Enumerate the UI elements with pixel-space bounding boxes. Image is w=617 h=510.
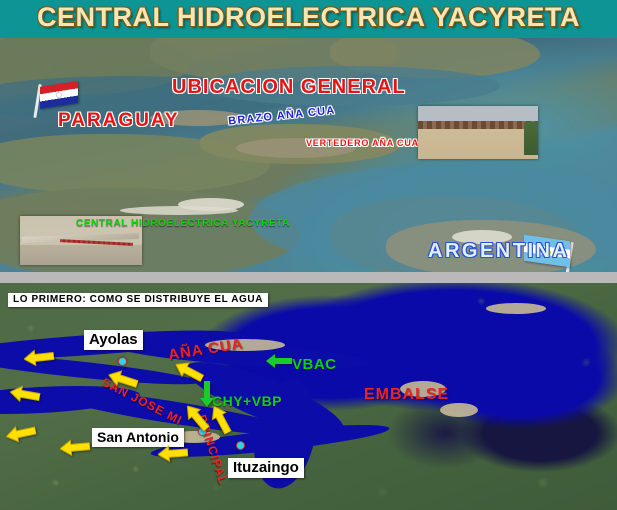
label-vertedero-ana-cua: VERTEDERO AÑA CUA xyxy=(306,138,419,148)
spillway-gates xyxy=(418,121,538,128)
page-title: CENTRAL HIDROELECTRICA YACYRETA xyxy=(0,2,617,33)
panel-separator xyxy=(0,272,617,283)
paraguay-flag xyxy=(32,84,78,110)
ubicacion-general-map[interactable]: UBICACION GENERAL PARAGUAY BRAZO AÑA CUA… xyxy=(0,38,617,272)
riverbank-vegetation xyxy=(524,122,538,155)
title-bar: CENTRAL HIDROELECTRICA YACYRETA xyxy=(0,0,617,38)
vertedero-ana-cua-photo[interactable] xyxy=(418,106,538,159)
flag-emblem xyxy=(56,92,62,98)
town-marker-ayolas[interactable] xyxy=(118,357,127,366)
inflow-arrow-vbac xyxy=(266,353,292,369)
island-shape xyxy=(486,303,546,314)
slide-root: CENTRAL HIDROELECTRICA YACYRETA UBICACIO… xyxy=(0,0,617,510)
town-label-ituzaingo: Ituzaingo xyxy=(228,458,304,478)
label-vbac: VBAC xyxy=(292,356,337,373)
powerhouse-water xyxy=(20,245,142,265)
inflow-arrow-chy-vbp xyxy=(199,381,215,407)
dam-structure-shape xyxy=(120,206,238,215)
town-label-ayolas: Ayolas xyxy=(84,330,143,350)
flow-arrow xyxy=(157,444,188,463)
town-marker-ituzaingo[interactable] xyxy=(236,441,245,450)
flow-arrow xyxy=(23,347,55,367)
bottom-map-caption: LO PRIMERO: COMO SE DISTRIBUYE EL AGUA xyxy=(8,293,268,307)
label-embalse: EMBALSE xyxy=(364,386,449,404)
label-paraguay: PARAGUAY xyxy=(58,110,180,132)
spillway-water xyxy=(418,129,538,159)
top-map-heading: UBICACION GENERAL xyxy=(172,76,406,99)
label-argentina: ARGENTINA xyxy=(428,240,569,263)
flow-arrow xyxy=(59,438,90,458)
island-shape xyxy=(440,403,478,417)
label-central-hidroelectrica: CENTRAL HIDROELECTRICA YACYRETA xyxy=(76,218,290,229)
distribucion-del-agua-map[interactable]: LO PRIMERO: COMO SE DISTRIBUYE EL AGUA A… xyxy=(0,283,617,510)
